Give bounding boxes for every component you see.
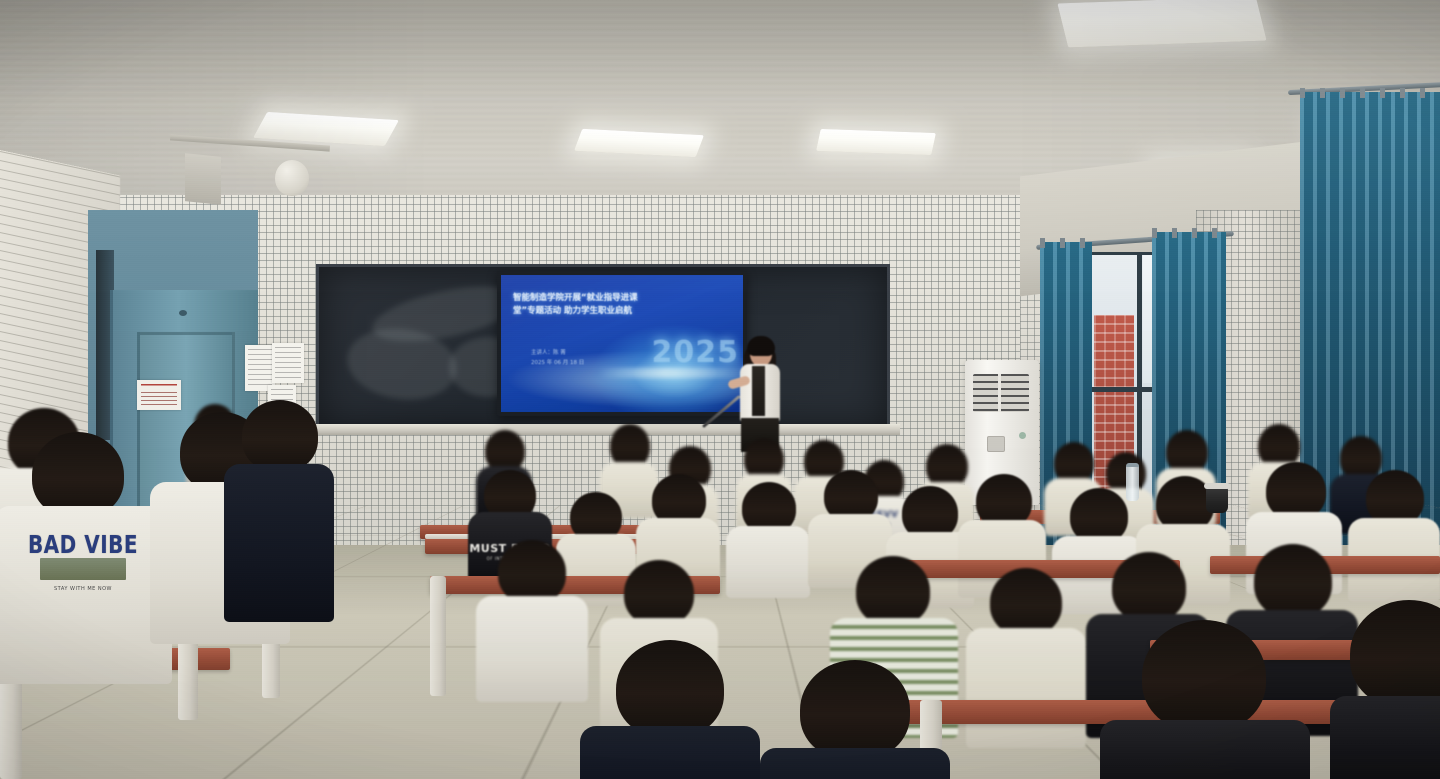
wall-notice-2 xyxy=(272,343,304,383)
student xyxy=(476,540,588,700)
shirt-text-sub: STAY WITH ME NOW xyxy=(0,586,172,592)
student-head xyxy=(800,660,910,760)
student-torso xyxy=(966,628,1086,748)
shirt-graphic-patch xyxy=(40,558,125,580)
presentation-slide: 2025 智能制造学院开展“就业指导进课 堂”专题活动 助力学生职业启航 主讲人… xyxy=(501,275,743,412)
student-torso xyxy=(580,726,760,779)
student-head xyxy=(1254,544,1332,618)
desk-side-panel xyxy=(430,576,446,696)
ac-vent-divider xyxy=(998,374,1001,412)
student xyxy=(726,482,810,596)
student xyxy=(1100,620,1310,779)
student xyxy=(760,660,950,779)
student xyxy=(1348,470,1440,600)
curtain-rings-icon xyxy=(1300,88,1440,98)
drink-cup xyxy=(1206,487,1228,513)
student-head xyxy=(1142,620,1266,732)
student-head xyxy=(1350,600,1440,708)
student-torso xyxy=(224,464,334,622)
student-head xyxy=(616,640,724,738)
door-knob-icon[interactable] xyxy=(179,310,187,316)
cup-lid xyxy=(1204,483,1230,489)
curtain-rings-icon xyxy=(1040,238,1092,248)
slide-blur-overlay xyxy=(501,275,743,412)
wall-speaker-box xyxy=(185,153,221,205)
student-badvibe: BAD VIBE STAY WITH ME NOW xyxy=(0,432,172,682)
ac-display-panel xyxy=(987,436,1005,452)
ac-vent-louvers-icon xyxy=(973,374,1029,412)
student-head xyxy=(856,556,930,626)
student-head xyxy=(624,560,694,626)
student-head xyxy=(498,540,566,604)
student-torso: BAD VIBE STAY WITH ME NOW xyxy=(0,506,172,684)
student-head xyxy=(990,568,1062,636)
student xyxy=(218,400,338,620)
presenter-vest xyxy=(752,366,765,416)
student xyxy=(580,640,760,779)
student-head xyxy=(242,400,318,472)
ac-led-icon xyxy=(1019,432,1026,439)
student-torso xyxy=(726,526,810,598)
projector-screen: 2025 智能制造学院开展“就业指导进课 堂”专题活动 助力学生职业启航 主讲人… xyxy=(497,271,747,416)
student-torso xyxy=(1330,696,1440,779)
curtain-rings-icon xyxy=(1152,228,1226,238)
student-head xyxy=(1112,552,1186,622)
classroom-photo: 2025 智能制造学院开展“就业指导进课 堂”专题活动 助力学生职业启航 主讲人… xyxy=(0,0,1440,779)
student-torso xyxy=(1100,720,1310,779)
presenter xyxy=(726,336,794,452)
shirt-text: BAD VIBE xyxy=(0,529,172,559)
student xyxy=(1330,600,1440,779)
student-torso xyxy=(760,748,950,779)
student-torso xyxy=(476,596,588,702)
presenter-hair-top xyxy=(747,336,775,356)
wall-speaker-round-icon xyxy=(275,160,309,196)
door-notice-paper xyxy=(137,380,181,410)
